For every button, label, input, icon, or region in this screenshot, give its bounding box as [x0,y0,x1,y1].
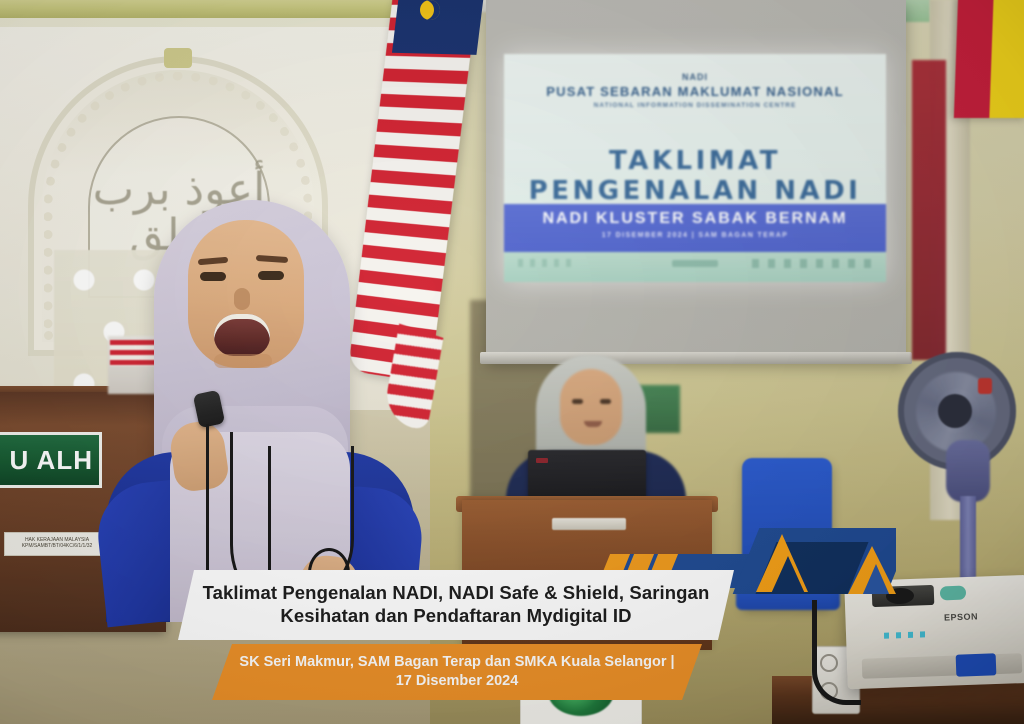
slide-organisation-english: NATIONAL INFORMATION DISSEMINATION CENTR… [504,102,886,109]
speaker-eye-right [258,271,284,280]
decoration-chevron-2-inner [862,564,890,594]
caption-subtitle-panel: SK Seri Makmur, SAM Bagan Terap dan SMKA… [212,644,702,700]
arch-keystone [164,48,192,68]
projection-screen-surface: NADI PUSAT SEBARAN MAKLUMAT NASIONAL NAT… [504,54,886,282]
caption-title-panel: Taklimat Pengenalan NADI, NADI Safe & Sh… [178,570,734,640]
wall-cornice-lower [0,18,400,27]
vga-cable-connector [956,653,997,676]
slide-band-title: NADI KLUSTER SABAK BERNAM [504,210,886,228]
caption-title: Taklimat Pengenalan NADI, NADI Safe & Sh… [178,582,734,628]
red-flag-backdrop [912,60,946,360]
standing-fan-motor [946,440,990,502]
speaker-mouth [214,314,270,356]
slide-kicker: NADI [504,72,886,82]
slide-band-subtitle: 17 DISEMBER 2024 | SAM BAGAN TERAP [504,232,886,239]
slide-foot-logo-row [752,259,872,268]
slide-foot-mid-mark [672,260,718,267]
foreground-speaker [110,196,410,616]
speaker-chin [214,354,272,368]
slide-footer-band: NADI KLUSTER SABAK BERNAM 17 DISEMBER 20… [504,204,886,252]
slide-foot-left-marks [518,259,574,267]
photo-canvas: أعوذ برب الفلق U ALH HAK KERAJAAN MALAYS… [0,0,1024,724]
wall-cornice [0,0,400,20]
standing-fan-hub [938,394,972,428]
green-sign: U ALH [0,432,102,488]
projector-brand-label: EPSON [944,611,978,623]
slide-organisation: PUSAT SEBARAN MAKLUMAT NASIONAL [504,84,886,99]
decoration-chevron-1-inner [770,556,806,594]
speaker-nose [234,288,250,310]
projector-focus-dial [940,586,966,601]
selangor-flag [954,0,1024,118]
green-sign-text: U ALH [10,445,93,476]
presenter-eye-right [600,399,611,404]
crescent-moon-icon [420,0,440,20]
ownership-plate: HAK KERAJAAN MALAYSIA KPM/SAMBT/BT/04KC/… [4,532,110,556]
caption-subtitle: SK Seri Makmur, SAM Bagan Terap dan SMKA… [212,653,702,691]
laptop-logo [536,458,548,463]
presenter-eye-left [572,399,583,404]
presenter-face [560,369,622,445]
speaker-eye-left [200,272,226,281]
standing-fan-badge [978,378,992,394]
slide-title: TAKLIMAT PENGENALAN NADI [504,146,886,206]
